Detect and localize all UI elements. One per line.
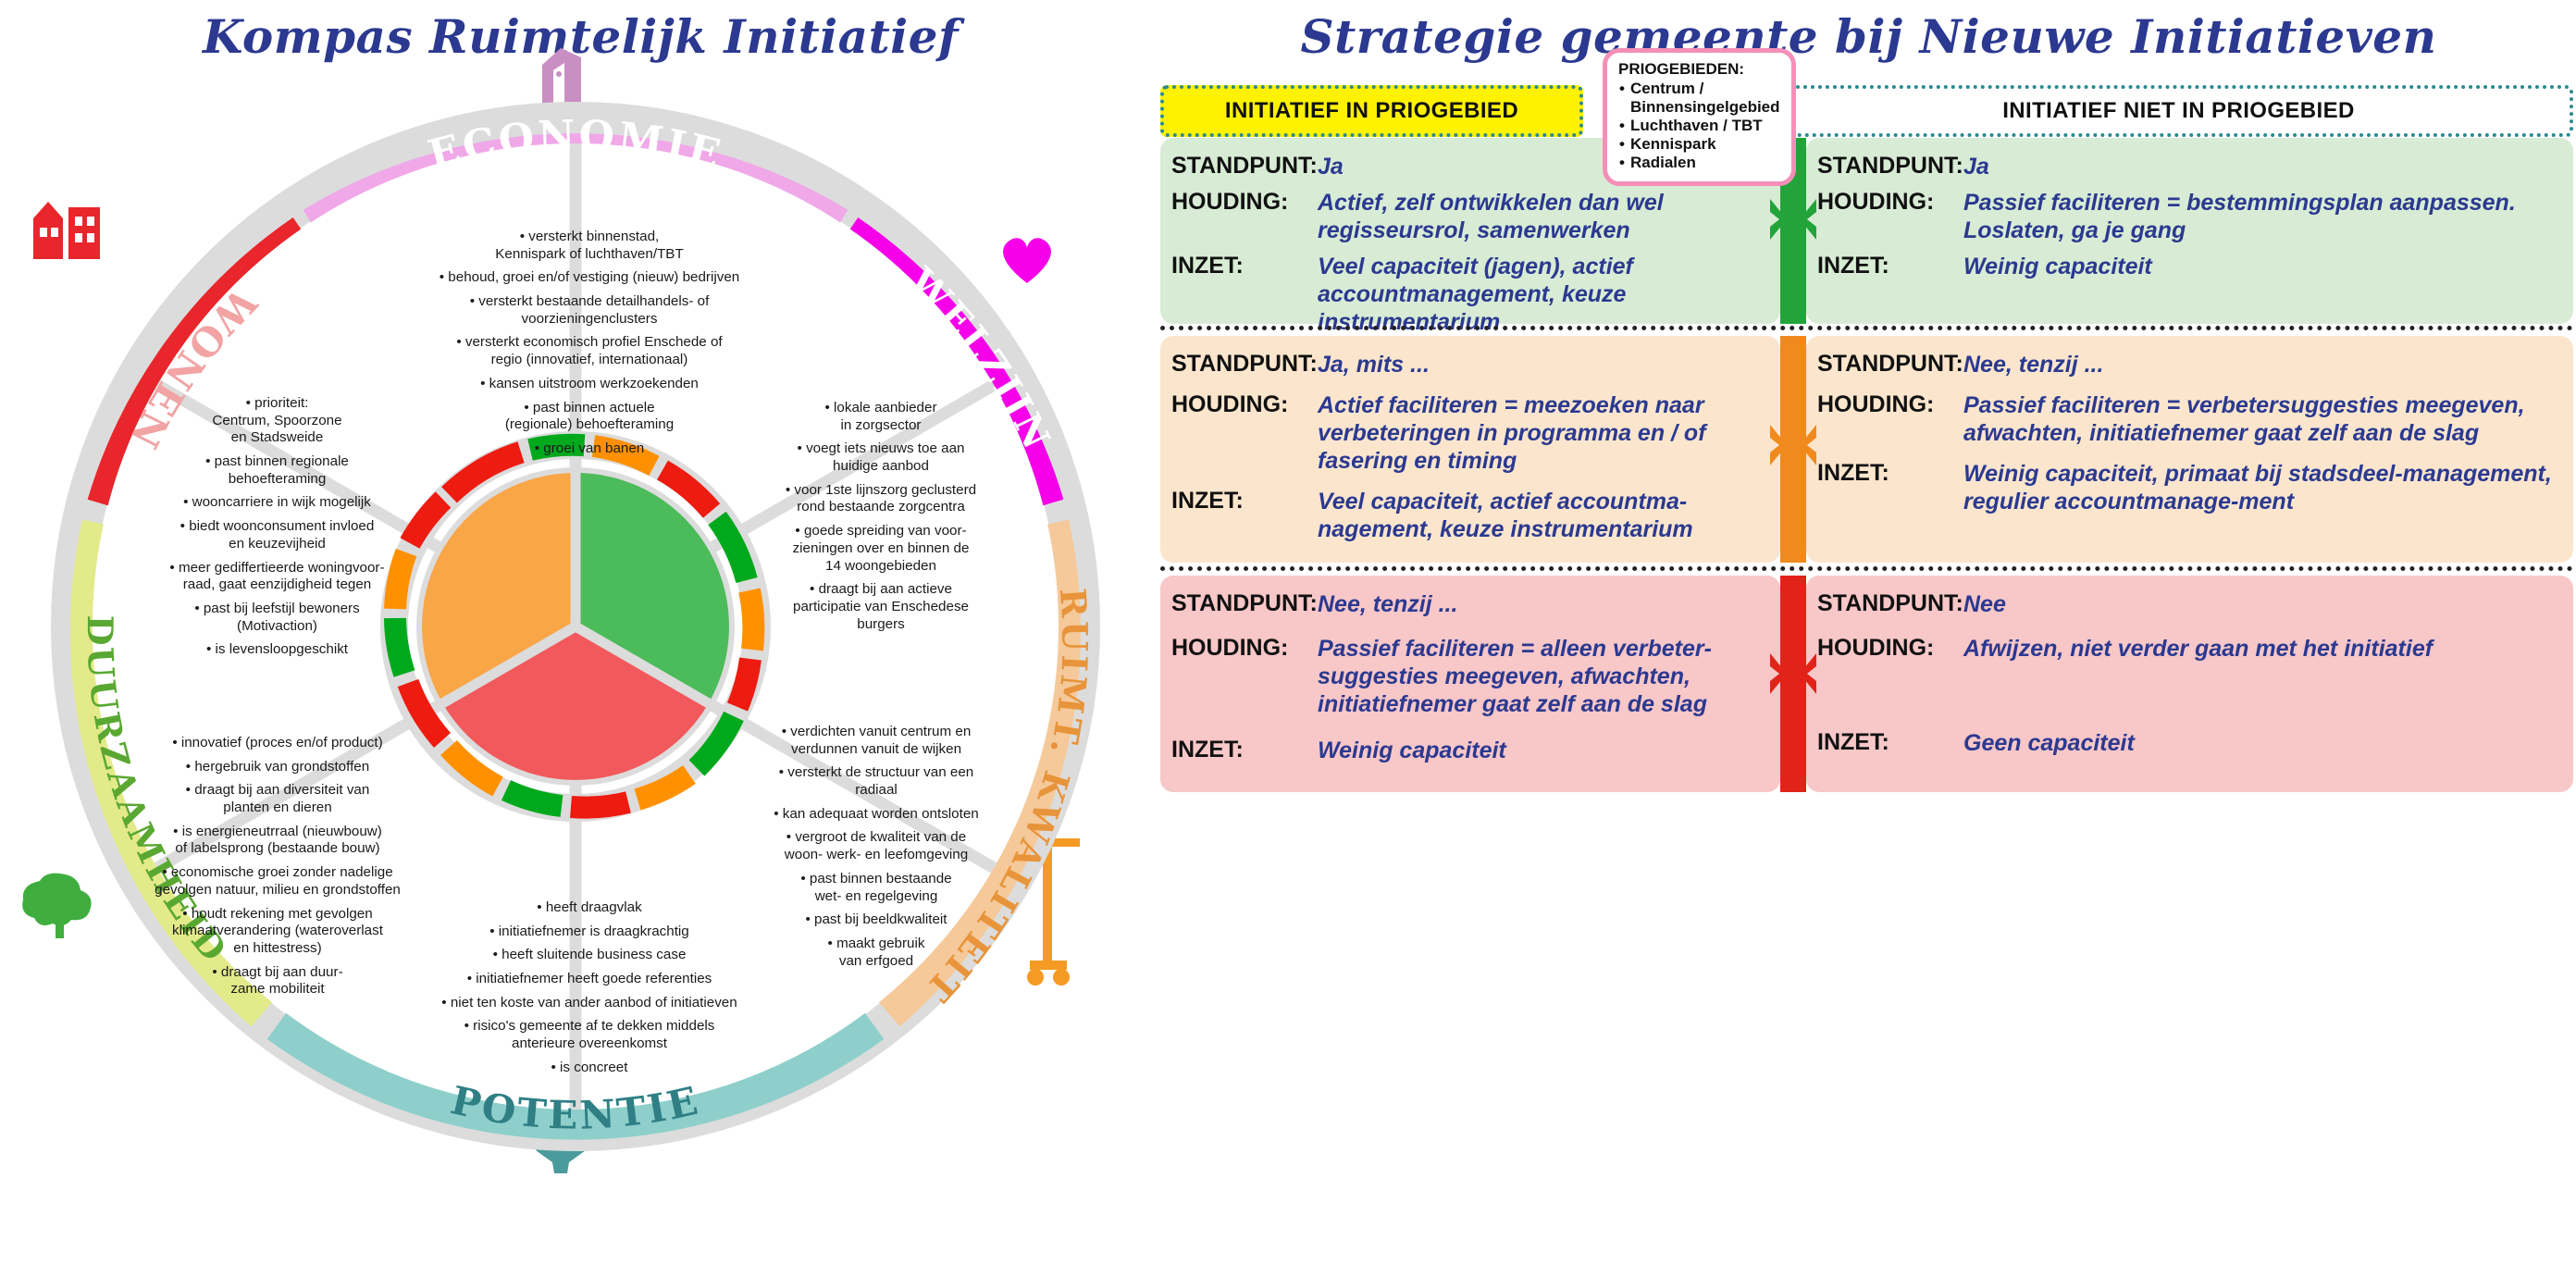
- arrow-left-icon: [1796, 650, 1818, 698]
- bullet-item: • initiatiefnemer is draagkrachtig: [349, 924, 830, 941]
- value-standpunt: Nee, tenzij ...: [1318, 590, 1457, 618]
- row-separator-1: [1160, 326, 2573, 330]
- bullet-list-economie: • versterkt binnenstad, Kennispark of lu…: [367, 229, 811, 465]
- value-inzet: Weinig capaciteit: [1963, 253, 2152, 280]
- label-houding: HOUDING:: [1171, 635, 1318, 661]
- bullet-list-welzijn: • lokale aanbieder in zorgsector• voegt …: [747, 400, 1015, 639]
- table-row-green: STANDPUNT:Ja HOUDING:Actief, zelf ontwik…: [1160, 138, 2573, 324]
- bullet-item: • risico's gemeente af te dekken middels…: [349, 1018, 830, 1052]
- value-houding: Passief faciliteren = bestemmingsplan aa…: [1963, 189, 2537, 244]
- bullet-list-wonen: • prioriteit: Centrum, Spoorzone en Stad…: [136, 395, 418, 665]
- priogebieden-item: Binnensingelgebied: [1630, 98, 1786, 117]
- bullet-item: • vergroot de kwaliteit van de woon- wer…: [728, 829, 1024, 863]
- label-standpunt: STANDPUNT:: [1171, 590, 1318, 616]
- value-inzet: Weinig capaciteit: [1318, 737, 1506, 764]
- priogebieden-list: Centrum /BinnensingelgebiedLuchthaven / …: [1618, 80, 1786, 172]
- value-houding: Actief, zelf ontwikkelen dan wel regisse…: [1318, 189, 1752, 244]
- bullet-item: • draagt bij aan actieve participatie va…: [747, 581, 1015, 633]
- priogebieden-callout: PRIOGEBIEDEN: Centrum /Binnensingelgebie…: [1603, 48, 1796, 186]
- bullet-item: • goede spreiding van voor- zieningen ov…: [747, 523, 1015, 575]
- value-inzet: Geen capaciteit: [1963, 729, 2135, 757]
- arrow-right-icon: [1768, 650, 1790, 698]
- bullet-item: • kan adequaat worden ontsloten: [728, 806, 1024, 824]
- arrow-left-icon: [1796, 195, 1818, 243]
- bullet-item: • is energieneutrraal (nieuwbouw) of lab…: [125, 824, 430, 858]
- bullet-item: • prioriteit: Centrum, Spoorzone en Stad…: [136, 395, 418, 447]
- label-houding: HOUDING:: [1817, 635, 1963, 661]
- bullet-item: • past binnen actuele (regionale) behoef…: [367, 400, 811, 434]
- bullet-item: • innovatief (proces en/of product): [125, 735, 430, 752]
- arrow-pair-green: [1768, 193, 1818, 245]
- bullet-item: • past bij leefstijl bewoners (Motivacti…: [136, 601, 418, 635]
- value-houding: Afwijzen, niet verder gaan met het initi…: [1963, 635, 2433, 663]
- bullet-item: • hergebruik van grondstoffen: [125, 759, 430, 776]
- kompas-wheel: ECONOMIE WELZIJN RUIMT. KWALITEIT POTENT…: [0, 44, 1161, 1238]
- bullet-item: • versterkt economisch profiel Enschede …: [367, 334, 811, 368]
- bullet-item: • kansen uitstroom werkzoekenden: [367, 376, 811, 393]
- bullet-item: • heeft draagvlak: [349, 899, 830, 917]
- bullet-item: • behoud, groei en/of vestiging (nieuw) …: [367, 269, 811, 287]
- cell-niet-in-priogebied-red: STANDPUNT:Nee HOUDING:Afwijzen, niet ver…: [1806, 576, 2573, 792]
- label-standpunt: STANDPUNT:: [1817, 351, 1963, 377]
- label-inzet: INZET:: [1817, 253, 1963, 279]
- bullet-item: • economische groei zonder nadelige gevo…: [125, 864, 430, 899]
- value-standpunt: Nee: [1963, 590, 2006, 618]
- value-standpunt: Nee, tenzij ...: [1963, 351, 2103, 378]
- cell-niet-in-priogebied-orange: STANDPUNT:Nee, tenzij ... HOUDING:Passie…: [1806, 336, 2573, 563]
- core-wheel: [416, 467, 735, 786]
- label-inzet: INZET:: [1171, 253, 1318, 279]
- label-standpunt: STANDPUNT:: [1171, 153, 1318, 179]
- value-houding: Passief faciliteren = alleen verbeter-su…: [1318, 635, 1762, 718]
- table-row-red: STANDPUNT:Nee, tenzij ... HOUDING:Passie…: [1160, 576, 2573, 792]
- priogebieden-item: Kennispark: [1630, 135, 1786, 154]
- value-inzet: Veel capaciteit, actief accountma-nageme…: [1318, 488, 1743, 543]
- bullet-item: • versterkt binnenstad, Kennispark of lu…: [367, 229, 811, 263]
- bullet-item: • lokale aanbieder in zorgsector: [747, 400, 1015, 434]
- arrow-left-icon: [1796, 421, 1818, 469]
- value-standpunt: Ja: [1963, 153, 1989, 180]
- bullet-item: • wooncarriere in wijk mogelijk: [136, 494, 418, 512]
- arrow-pair-red: [1768, 648, 1818, 700]
- value-standpunt: Ja: [1318, 153, 1344, 180]
- bullet-item: • versterkt de structuur van een radiaal: [728, 764, 1024, 799]
- label-houding: HOUDING:: [1171, 189, 1318, 215]
- cell-niet-in-priogebied-green: STANDPUNT:Ja HOUDING:Passief faciliteren…: [1806, 138, 2573, 324]
- bullet-item: • is concreet: [349, 1060, 830, 1077]
- priogebieden-item: Radialen: [1630, 154, 1786, 172]
- bullet-item: • verdichten vanuit centrum en verdunnen…: [728, 724, 1024, 758]
- kompas-panel: Kompas Ruimtelijk Initiatief: [0, 0, 1161, 1277]
- arrow-right-icon: [1768, 421, 1790, 469]
- priogebieden-item: Luchthaven / TBT: [1630, 117, 1786, 135]
- bullet-item: • initiatiefnemer heeft goede referentie…: [349, 971, 830, 988]
- label-inzet: INZET:: [1817, 729, 1963, 755]
- bullet-item: • meer gediffertieerde woningvoor- raad,…: [136, 560, 418, 594]
- bullet-item: • voor 1ste lijnszorg geclusterd rond be…: [747, 482, 1015, 516]
- label-inzet: INZET:: [1171, 737, 1318, 762]
- arrow-right-icon: [1768, 195, 1790, 243]
- value-standpunt: Ja, mits ...: [1318, 351, 1430, 378]
- value-inzet: Weinig capaciteit, primaat bij stadsdeel…: [1963, 460, 2555, 515]
- priogebieden-title: PRIOGEBIEDEN:: [1618, 60, 1786, 79]
- bullet-item: • versterkt bestaande detailhandels- of …: [367, 293, 811, 328]
- label-houding: HOUDING:: [1171, 391, 1318, 417]
- cell-in-priogebied-red: STANDPUNT:Nee, tenzij ... HOUDING:Passie…: [1160, 576, 1780, 792]
- bullet-item: • is levensloopgeschikt: [136, 641, 418, 659]
- header-initiatief-in-priogebied: INITIATIEF IN PRIOGEBIED: [1160, 85, 1583, 137]
- bullet-item: • heeft sluitende business case: [349, 947, 830, 964]
- cell-in-priogebied-orange: STANDPUNT:Ja, mits ... HOUDING:Actief fa…: [1160, 336, 1780, 563]
- table-row-orange: STANDPUNT:Ja, mits ... HOUDING:Actief fa…: [1160, 336, 2573, 563]
- row-separator-2: [1160, 566, 2573, 571]
- label-standpunt: STANDPUNT:: [1817, 153, 1963, 179]
- bullet-item: • past binnen regionale behoefteraming: [136, 453, 418, 488]
- strategie-panel: Strategie gemeente bij Nieuwe Initiatiev…: [1161, 0, 2576, 1277]
- bullet-list-potentie: • heeft draagvlak• initiatiefnemer is dr…: [349, 899, 830, 1084]
- value-inzet: Veel capaciteit (jagen), actief accountm…: [1318, 253, 1651, 336]
- bullet-item: • voegt iets nieuws toe aan huidige aanb…: [747, 440, 1015, 475]
- bullet-item: • biedt woonconsument invloed en keuzevi…: [136, 518, 418, 552]
- priogebieden-item: Centrum /: [1630, 80, 1786, 98]
- label-houding: HOUDING:: [1817, 391, 1963, 417]
- value-houding: Actief faciliteren = meezoeken naar verb…: [1318, 391, 1739, 475]
- bullet-item: • niet ten koste van ander aanbod of ini…: [349, 995, 830, 1012]
- label-inzet: INZET:: [1817, 460, 1963, 486]
- label-standpunt: STANDPUNT:: [1817, 590, 1963, 616]
- value-houding: Passief faciliteren = verbetersuggesties…: [1963, 391, 2555, 447]
- header-initiatief-niet-in-priogebied: INITIATIEF NIET IN PRIOGEBIED: [1784, 85, 2573, 137]
- label-houding: HOUDING:: [1817, 189, 1963, 215]
- label-standpunt: STANDPUNT:: [1171, 351, 1318, 377]
- bullet-item: • draagt bij aan diversiteit van planten…: [125, 782, 430, 816]
- arrow-pair-orange: [1768, 419, 1818, 471]
- bullet-item: • groei van banen: [367, 440, 811, 458]
- label-inzet: INZET:: [1171, 488, 1318, 514]
